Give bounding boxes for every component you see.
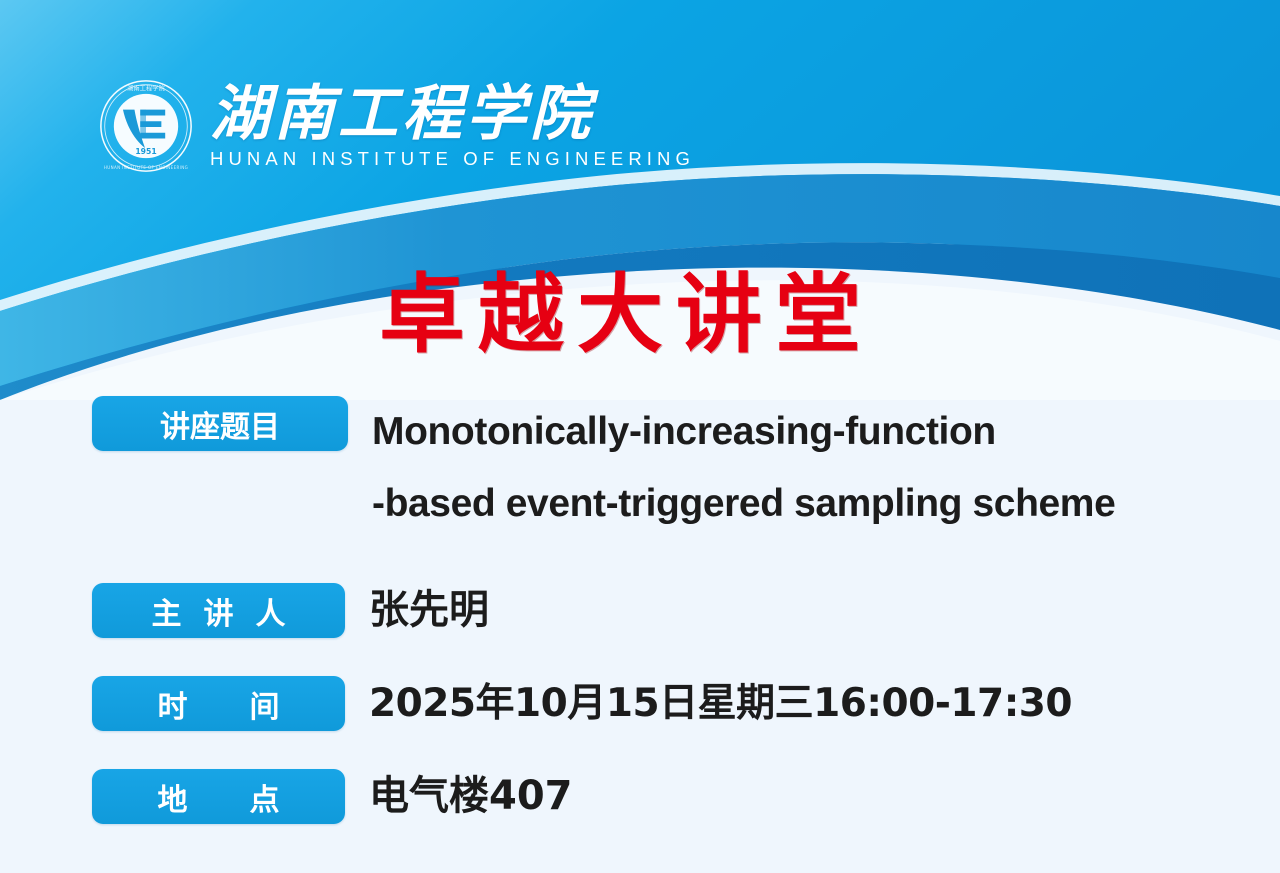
- institution-name-en: HUNAN INSTITUTE OF ENGINEERING: [210, 150, 695, 169]
- info-row-time: 时间 2025年10月15日星期三16:00-17:30: [92, 676, 1072, 731]
- headline-text: 卓越大讲堂: [366, 272, 874, 358]
- lecture-title-line2: -based event-triggered sampling scheme: [372, 468, 1115, 540]
- label-time: 时间: [92, 676, 345, 731]
- value-time: 2025年10月15日星期三16:00-17:30: [369, 676, 1072, 731]
- info-row-title: 讲座题目 Monotonically-increasing-function -…: [92, 396, 1115, 540]
- svg-text:湖南工程学院: 湖南工程学院: [127, 84, 165, 92]
- value-lecture-title: Monotonically-increasing-function -based…: [372, 396, 1115, 540]
- institution-wordmark: 湖南工程学院 HUNAN INSTITUTE OF ENGINEERING: [210, 84, 695, 169]
- value-speaker: 张先明: [369, 583, 489, 638]
- poster-headline: 卓越大讲堂: [0, 272, 1280, 358]
- university-seal-icon: 1951 湖南工程学院 HUNAN INSTITUTE OF ENGINEERI…: [98, 78, 194, 174]
- info-row-speaker: 主讲人 张先明: [92, 583, 489, 638]
- lecture-poster: 1951 湖南工程学院 HUNAN INSTITUTE OF ENGINEERI…: [0, 0, 1280, 873]
- label-speaker: 主讲人: [92, 583, 345, 638]
- svg-text:HUNAN INSTITUTE OF ENGINEERING: HUNAN INSTITUTE OF ENGINEERING: [104, 165, 188, 170]
- lecture-title-line1: Monotonically-increasing-function: [372, 410, 996, 453]
- institution-logo: 1951 湖南工程学院 HUNAN INSTITUTE OF ENGINEERI…: [98, 78, 695, 174]
- svg-text:1951: 1951: [135, 147, 156, 156]
- label-lecture-title: 讲座题目: [92, 396, 348, 451]
- info-row-place: 地点 电气楼407: [92, 769, 573, 824]
- value-place: 电气楼407: [369, 769, 573, 824]
- label-place: 地点: [92, 769, 345, 824]
- institution-name-cn: 湖南工程学院: [210, 84, 594, 144]
